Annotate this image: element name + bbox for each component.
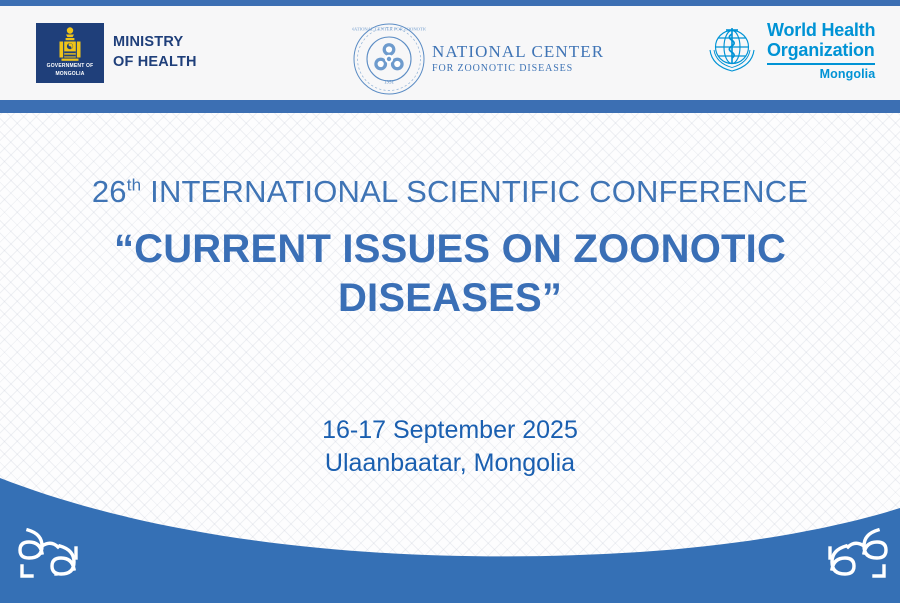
moh-name-line2: OF HEALTH — [113, 53, 197, 73]
conference-number-line: 26th INTERNATIONAL SCIENTIFIC CONFERENCE — [0, 175, 900, 209]
logo-ministry-of-health: GOVERNMENT OF MONGOLIA MINISTRY OF HEALT… — [36, 23, 197, 83]
conference-theme-line2: DISEASES” — [0, 274, 900, 323]
conference-title-slide: GOVERNMENT OF MONGOLIA MINISTRY OF HEALT… — [0, 0, 900, 603]
footer-wave-fill — [0, 478, 900, 603]
mongolian-knot-ornament-left-icon — [16, 522, 88, 584]
nczd-name-line1: NATIONAL CENTER — [432, 43, 604, 62]
title-block: 26th INTERNATIONAL SCIENTIFIC CONFERENCE… — [0, 175, 900, 323]
who-name-line1: World Health — [767, 20, 875, 40]
header-separator-bar — [0, 100, 900, 113]
logo-world-health-organization: World Health Organization Mongolia — [703, 20, 875, 81]
conference-ordinal: 26 — [92, 174, 127, 209]
mongolian-knot-ornament-right-icon — [818, 522, 890, 584]
who-name: World Health Organization Mongolia — [767, 20, 875, 81]
event-date: 16-17 September 2025 — [0, 414, 900, 447]
conference-theme-line1: “CURRENT ISSUES ON ZOONOTIC — [0, 225, 900, 274]
svg-text:NATIONAL CENTER FOR ZOONOTIC: NATIONAL CENTER FOR ZOONOTIC — [352, 27, 426, 32]
soyombo-icon — [57, 26, 83, 64]
who-emblem-icon — [703, 20, 761, 78]
conference-theme: “CURRENT ISSUES ON ZOONOTIC DISEASES” — [0, 225, 900, 323]
mongolia-soyombo-emblem-icon: GOVERNMENT OF MONGOLIA — [36, 23, 104, 83]
conference-line-text: INTERNATIONAL SCIENTIFIC CONFERENCE — [141, 174, 808, 209]
emblem-caption-line1: GOVERNMENT OF — [36, 63, 104, 69]
moh-name-line1: MINISTRY — [113, 33, 197, 53]
conference-ordinal-suffix: th — [127, 176, 142, 195]
footer-wave-decoration — [0, 460, 900, 603]
who-name-line2: Organization — [767, 40, 875, 60]
biohazard-seal-icon: 1951 NATIONAL CENTER FOR ZOONOTIC — [352, 22, 426, 96]
who-divider-rule — [767, 63, 875, 65]
ministry-of-health-name: MINISTRY OF HEALTH — [113, 33, 197, 72]
nczd-name: NATIONAL CENTER FOR ZOONOTIC DISEASES — [432, 43, 604, 75]
who-country-label: Mongolia — [767, 67, 875, 81]
logo-national-center-zoonotic-diseases: 1951 NATIONAL CENTER FOR ZOONOTIC NATION… — [352, 22, 604, 96]
nczd-name-line2: FOR ZOONOTIC DISEASES — [432, 62, 604, 75]
seal-year: 1951 — [384, 81, 395, 86]
emblem-caption-line2: MONGOLIA — [36, 71, 104, 77]
